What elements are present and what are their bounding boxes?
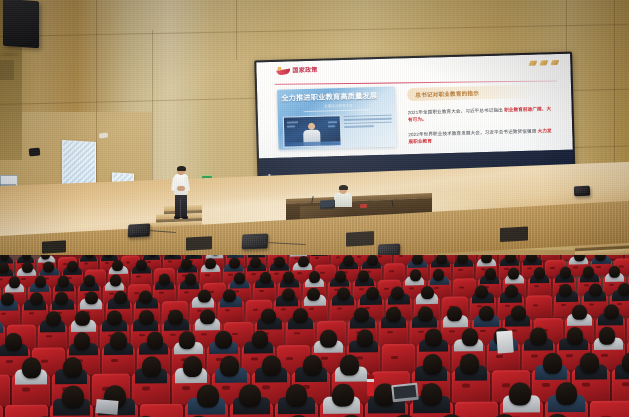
paragraph-lead: 2022年世界职业技术教育发展大会，习近平总书记致贺信强调 bbox=[408, 129, 536, 138]
attendee-head bbox=[357, 330, 374, 348]
audience-seating bbox=[0, 255, 629, 417]
card-text-lines bbox=[344, 115, 392, 130]
attendee-head bbox=[147, 332, 164, 350]
attendee-head bbox=[107, 310, 122, 326]
wall-shadow-patch bbox=[0, 60, 14, 80]
auditorium-seat bbox=[526, 295, 552, 317]
audience-tablet bbox=[496, 330, 513, 353]
desk-laptop bbox=[320, 200, 335, 210]
attendee-head bbox=[534, 267, 546, 279]
attendee-head bbox=[261, 308, 276, 324]
attendee-head bbox=[274, 257, 285, 268]
attendee-head bbox=[560, 267, 572, 279]
attendee-head bbox=[262, 356, 281, 376]
attendee-head bbox=[234, 272, 246, 284]
presenter-shoe bbox=[174, 216, 180, 219]
attendee-head bbox=[460, 354, 479, 374]
attendee-head bbox=[609, 266, 621, 278]
attendee-head bbox=[337, 287, 350, 301]
auditorium-seat bbox=[132, 373, 170, 405]
slide-logo-text: 国家政策 bbox=[292, 65, 317, 75]
attendee-head bbox=[286, 384, 308, 407]
auditorium-seat bbox=[5, 405, 48, 417]
attendee-head bbox=[320, 330, 337, 348]
auditorium-seat bbox=[0, 375, 10, 407]
laptop-screen bbox=[393, 385, 416, 399]
attendee-head bbox=[618, 282, 629, 296]
auditorium-seat bbox=[382, 344, 415, 372]
attendee-head bbox=[485, 268, 497, 280]
attendee-head bbox=[260, 272, 272, 284]
attendee-head bbox=[252, 331, 269, 349]
attendee-shoulders bbox=[311, 255, 327, 256]
auditorium-seat bbox=[453, 262, 474, 279]
text-line bbox=[344, 126, 374, 128]
attendee-head bbox=[84, 275, 96, 287]
presenter-hair bbox=[177, 166, 186, 171]
photo-lower-third bbox=[284, 141, 340, 147]
presenter-shoe bbox=[182, 216, 188, 219]
attendee-head bbox=[114, 290, 127, 304]
slide-paragraph-1: 2021年全国职业教育大会，习近平总书记指出 职业教育前途广阔、大有可为。 bbox=[408, 105, 554, 123]
paragraph-lead: 2021年全国职业教育大会，习近平总书记指出 bbox=[408, 108, 503, 116]
attendee-head bbox=[35, 276, 47, 288]
attendee-head bbox=[46, 311, 61, 327]
attendee-head bbox=[412, 255, 423, 265]
person-hair bbox=[339, 185, 348, 190]
attendee-head bbox=[604, 304, 619, 320]
attendee-head bbox=[58, 275, 70, 287]
deco-mark-2 bbox=[539, 60, 548, 65]
attendee-head bbox=[447, 306, 462, 322]
attendee-head bbox=[283, 272, 295, 284]
auditorium-seat bbox=[590, 401, 629, 417]
attendee-head bbox=[303, 355, 322, 375]
auditorium-seat bbox=[612, 369, 629, 401]
attendee-head bbox=[298, 256, 309, 267]
attendee-head bbox=[366, 286, 379, 300]
attendee-head bbox=[110, 332, 127, 350]
text-line bbox=[344, 118, 392, 121]
auditorium-seat bbox=[38, 324, 67, 349]
attendee-head bbox=[229, 258, 240, 269]
attendee-head bbox=[142, 357, 161, 377]
laptop-screen bbox=[321, 201, 334, 208]
auditorium-seat bbox=[0, 405, 3, 417]
attendee-head bbox=[309, 271, 321, 283]
news-broadcast-thumbnail bbox=[283, 115, 342, 148]
attendee-head bbox=[136, 260, 147, 271]
attendee-head bbox=[112, 260, 123, 271]
attendee-head bbox=[421, 286, 434, 300]
fascia-vent bbox=[500, 226, 528, 242]
presenter-shadow bbox=[0, 52, 24, 57]
photo-graphic-bar bbox=[287, 121, 298, 123]
ceiling-speaker-icon bbox=[3, 0, 39, 48]
attendee-head bbox=[599, 327, 616, 345]
attendee-head bbox=[556, 382, 578, 405]
auditorium-seat bbox=[528, 277, 551, 296]
attendee-head bbox=[282, 288, 295, 302]
standing-presenter bbox=[172, 166, 190, 220]
attendee-head bbox=[580, 353, 599, 373]
attendee-head bbox=[436, 255, 447, 265]
attendee-head bbox=[589, 283, 602, 297]
attendee-head bbox=[332, 384, 354, 407]
attendee-head bbox=[75, 311, 90, 327]
attendee-head bbox=[335, 271, 347, 283]
attendee-head bbox=[159, 274, 171, 286]
auditorium-seat bbox=[286, 321, 315, 346]
attendee-head bbox=[343, 255, 354, 266]
header-decoration bbox=[529, 60, 558, 66]
attendee-head bbox=[185, 273, 197, 285]
auditorium-seat bbox=[379, 320, 408, 345]
attendee-head bbox=[198, 289, 211, 303]
audience-laptop bbox=[95, 399, 118, 415]
auditorium-seat bbox=[12, 374, 50, 406]
attendee-head bbox=[293, 308, 308, 324]
attendee-head bbox=[543, 353, 562, 373]
slide-paragraph-2: 2022年世界职业技术教育发展大会，习近平总书记致贺信强调 大力发展职业教育 bbox=[408, 127, 554, 145]
attendee-head bbox=[1, 292, 14, 306]
attendee-head bbox=[367, 255, 378, 266]
slide-right-panel: 总书记对职业教育的指示 2021年全国职业教育大会，习近平总书记指出 职业教育前… bbox=[407, 84, 559, 145]
auditorium-seat bbox=[0, 303, 20, 325]
attendee-head bbox=[358, 270, 370, 282]
auditorium-seat bbox=[384, 263, 405, 280]
quote-banner-text: 总书记对职业教育的指示 bbox=[415, 89, 479, 99]
attendee-head bbox=[425, 329, 442, 347]
person-torso bbox=[334, 193, 352, 207]
attendee-head bbox=[43, 262, 54, 273]
attendee-head bbox=[505, 284, 518, 298]
attendee-head bbox=[67, 261, 78, 272]
seated-speaker bbox=[332, 186, 354, 212]
auditorium-seat bbox=[50, 404, 93, 417]
wall-speaker-icon bbox=[29, 148, 41, 157]
attendee-head bbox=[508, 268, 520, 280]
attendee-head bbox=[215, 331, 232, 349]
attendee-head bbox=[423, 354, 442, 374]
attendee-head bbox=[5, 333, 22, 351]
slide-left-card: 全力推进职业教育高质量发展 全国职业教育大会 bbox=[277, 87, 397, 150]
attendee-head bbox=[200, 309, 215, 325]
attendee-head bbox=[63, 357, 82, 377]
attendee-head bbox=[583, 266, 595, 278]
text-line bbox=[344, 122, 392, 125]
attendee-head bbox=[62, 386, 84, 409]
attendee-head bbox=[410, 269, 422, 281]
auditorium-seat bbox=[452, 370, 490, 402]
auditorium-photo: 国家政策 全力推进职业教育高质量发展 全国职业教育大会 bbox=[0, 0, 629, 417]
water-bottle bbox=[367, 378, 374, 396]
auditorium-seat bbox=[200, 267, 221, 284]
stage-wedge-1 bbox=[128, 223, 151, 237]
attendee-head bbox=[418, 307, 433, 323]
auditorium-seat bbox=[218, 300, 244, 322]
attendee-head bbox=[462, 329, 479, 347]
photo-graphic-bar bbox=[328, 125, 335, 127]
attendee-head bbox=[386, 307, 401, 323]
attendee-head bbox=[181, 259, 192, 270]
attendee-head bbox=[220, 356, 239, 376]
auditorium-seat bbox=[230, 403, 273, 417]
attendee-head bbox=[9, 276, 21, 288]
attendee-head bbox=[30, 292, 43, 306]
fascia-vent bbox=[186, 236, 212, 250]
auditorium-seat bbox=[253, 282, 276, 301]
attendee-head bbox=[22, 358, 41, 378]
attendee-head bbox=[197, 385, 219, 408]
fascia-vent bbox=[42, 240, 66, 253]
deco-mark-1 bbox=[528, 61, 537, 66]
attendee-head bbox=[250, 257, 261, 268]
attendee-head bbox=[509, 383, 531, 406]
attendee-head bbox=[179, 332, 196, 350]
attendee-head bbox=[530, 328, 547, 346]
deco-mark-3 bbox=[550, 60, 559, 65]
slide-card-title: 全力推进职业教育高质量发展 bbox=[281, 91, 391, 104]
attendee-head bbox=[74, 333, 91, 351]
auditorium-seat bbox=[185, 404, 228, 417]
fascia-vent bbox=[346, 231, 374, 247]
bottle-cap bbox=[367, 375, 374, 379]
attendee-head bbox=[22, 262, 33, 273]
attendee-head bbox=[340, 355, 359, 375]
presentation-slide: 国家政策 全力推进职业教育高质量发展 全国职业教育大会 bbox=[256, 54, 573, 159]
attendee-head bbox=[433, 269, 445, 281]
spark-shape bbox=[277, 67, 281, 71]
attendee-head bbox=[505, 255, 516, 263]
stage-wedge-5 bbox=[574, 186, 590, 197]
attendee-head bbox=[183, 356, 202, 376]
attendee-head bbox=[567, 328, 584, 346]
attendee-head bbox=[479, 306, 494, 322]
attendee-head bbox=[572, 305, 587, 321]
auditorium-seat bbox=[140, 404, 183, 417]
attendee-head bbox=[0, 262, 9, 273]
attendee-head bbox=[239, 385, 261, 408]
wall-seam bbox=[236, 0, 237, 60]
quote-banner: 总书记对职业教育的指示 bbox=[407, 85, 535, 102]
auditorium-seat bbox=[102, 347, 135, 375]
attendee-head bbox=[205, 258, 216, 269]
attendee-head bbox=[354, 307, 369, 323]
attendee-head bbox=[85, 291, 98, 305]
attendee-head bbox=[511, 305, 526, 321]
attendee-head bbox=[139, 310, 154, 326]
auditorium-seat bbox=[455, 402, 498, 417]
photo-graphic-bar bbox=[328, 121, 337, 123]
text-line bbox=[344, 115, 392, 118]
red-folder bbox=[360, 204, 367, 208]
attendee-head bbox=[421, 383, 443, 406]
audience-laptop bbox=[391, 383, 419, 403]
presenter-hands bbox=[177, 186, 185, 191]
attendee-head bbox=[110, 275, 122, 287]
presenter-legs bbox=[175, 194, 187, 218]
red-swoosh-logo-icon bbox=[276, 66, 290, 76]
leg-separation bbox=[180, 199, 181, 217]
attendee-head bbox=[168, 310, 183, 326]
photo-graphic-bar bbox=[287, 125, 295, 127]
